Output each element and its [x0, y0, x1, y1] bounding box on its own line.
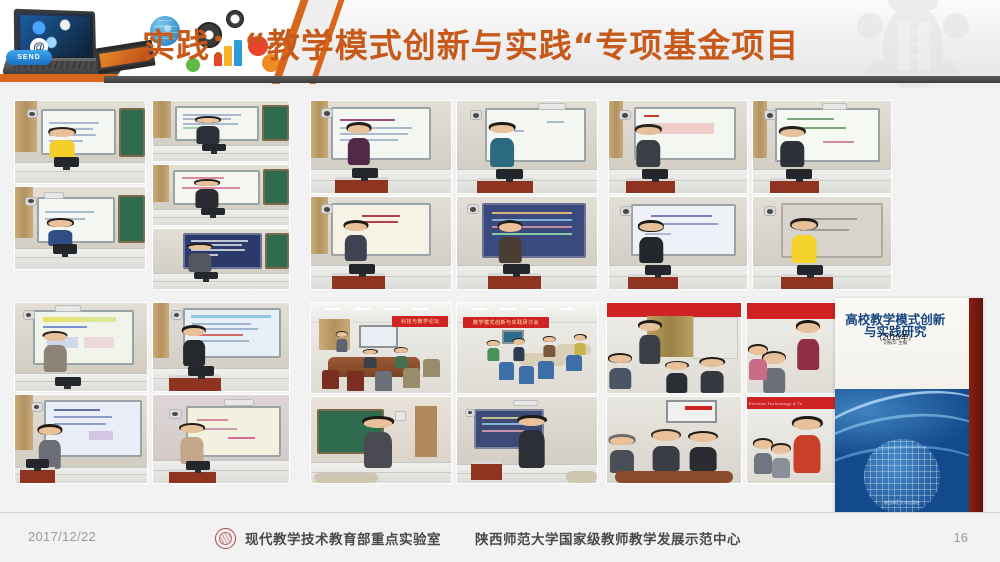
header-dark-bar: [104, 76, 1000, 83]
list-item[interactable]: [152, 394, 290, 484]
list-item[interactable]: [152, 164, 290, 226]
header-orange-bar: [0, 74, 118, 82]
list-item[interactable]: [14, 394, 148, 484]
list-item[interactable]: 科技与教学论坛: [310, 302, 452, 394]
book-spine: [969, 298, 983, 514]
list-item[interactable]: [310, 396, 452, 484]
page-number: 16: [954, 530, 968, 545]
book-cover-top: 高校教学模式创新 与实践研究 （2015年） 刘振华 主编: [835, 298, 969, 389]
send-button-graphic: SEND: [6, 50, 52, 65]
slide-header: @ SEND 实践：“教学模式创新与实践“专项基金项目: [0, 0, 1000, 88]
photo-collage: 科技与教学论坛 教学模式创新与实践研讨会: [0, 88, 1000, 512]
list-item[interactable]: [14, 100, 146, 184]
banner-text: 教学模式创新与实践研讨会: [463, 317, 550, 328]
list-item[interactable]: [310, 100, 452, 194]
list-item[interactable]: [606, 302, 742, 394]
book-editor: 刘振华 主编: [843, 340, 948, 346]
list-item[interactable]: [14, 302, 148, 392]
list-item[interactable]: [752, 196, 892, 290]
list-item[interactable]: [456, 100, 598, 194]
university-seal-icon: [215, 528, 236, 549]
footer-date: 2017/12/22: [28, 529, 96, 544]
book-cover-photo[interactable]: 高校教学模式创新 与实践研究 （2015年） 刘振华 主编 陕西师范大学出版社: [835, 298, 983, 514]
list-item[interactable]: [746, 302, 838, 394]
book-cover-bottom: 陕西师范大学出版社: [835, 389, 969, 514]
list-item[interactable]: [608, 100, 748, 194]
list-item[interactable]: [310, 196, 452, 290]
list-item[interactable]: [152, 302, 290, 392]
list-item[interactable]: [14, 186, 146, 270]
slide-footer: 2017/12/22 现代教学技术教育部重点实验室 陕西师范大学国家级教师教学发…: [0, 512, 1000, 562]
list-item[interactable]: Science Technology & Te: [746, 396, 838, 484]
list-item[interactable]: 教学模式创新与实践研讨会: [456, 302, 598, 394]
footer-lab-name: 现代教学技术教育部重点实验室: [245, 528, 441, 548]
list-item[interactable]: [456, 196, 598, 290]
banner-text: Science Technology & Te: [749, 400, 835, 408]
banner-text: 科技与教学论坛: [392, 316, 448, 328]
book-publisher: 陕西师范大学出版社: [884, 500, 920, 506]
footer-organization: 现代教学技术教育部重点实验室 陕西师范大学国家级教师教学发展示范中心: [215, 526, 741, 550]
list-item[interactable]: [608, 196, 748, 290]
footer-center-name: 陕西师范大学国家级教师教学发展示范中心: [475, 528, 741, 548]
list-item[interactable]: [456, 396, 598, 484]
list-item[interactable]: [152, 100, 290, 162]
list-item[interactable]: [752, 100, 892, 194]
list-item[interactable]: [152, 228, 290, 290]
page-title: 实践：“教学模式创新与实践“专项基金项目: [142, 12, 932, 74]
list-item[interactable]: [606, 396, 742, 484]
